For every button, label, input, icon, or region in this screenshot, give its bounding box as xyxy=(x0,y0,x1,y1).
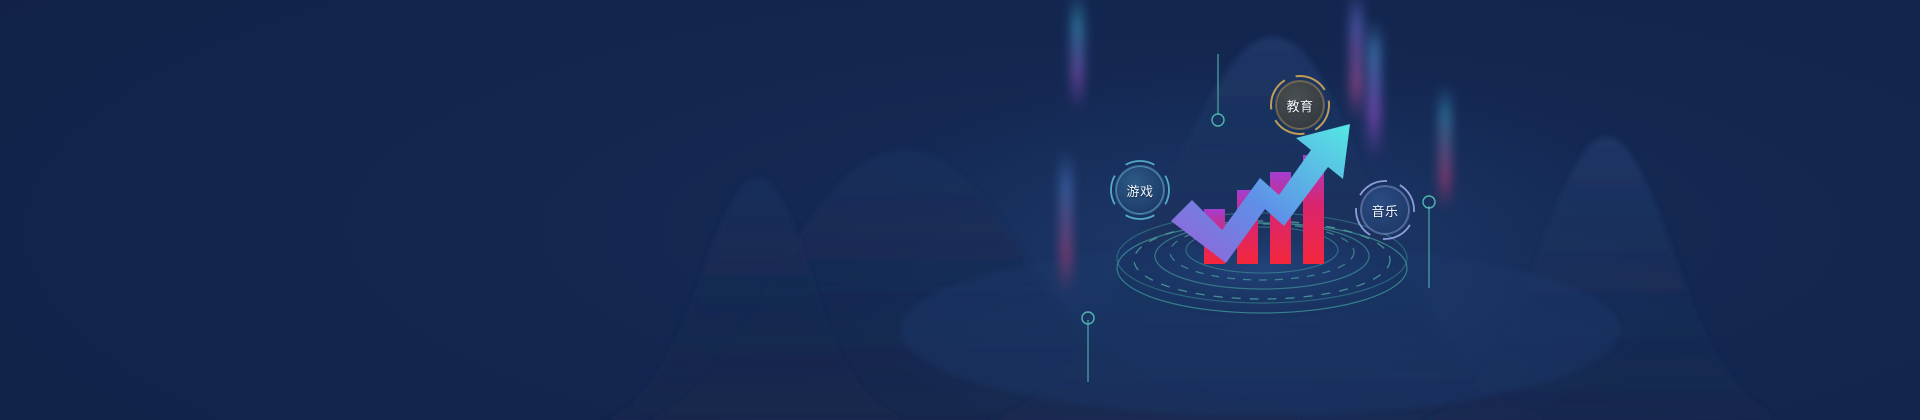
pin-left xyxy=(1078,310,1098,386)
category-badge-game[interactable]: 游戏 xyxy=(1108,158,1172,222)
badge-label-game: 游戏 xyxy=(1126,181,1153,200)
badge-core-game: 游戏 xyxy=(1116,166,1164,214)
pin-right xyxy=(1419,192,1439,292)
category-badge-music[interactable]: 音乐 xyxy=(1353,178,1417,242)
badge-core-education: 教育 xyxy=(1276,81,1324,129)
pin-top xyxy=(1208,50,1228,130)
category-badge-education[interactable]: 教育 xyxy=(1268,73,1332,137)
badge-core-music: 音乐 xyxy=(1361,186,1409,234)
background-scenery xyxy=(0,0,1920,420)
badge-label-education: 教育 xyxy=(1286,96,1313,115)
banner-stage: 游戏 教育 音乐 xyxy=(0,0,1920,420)
pin-dot xyxy=(1212,114,1224,126)
badge-label-music: 音乐 xyxy=(1371,201,1398,220)
